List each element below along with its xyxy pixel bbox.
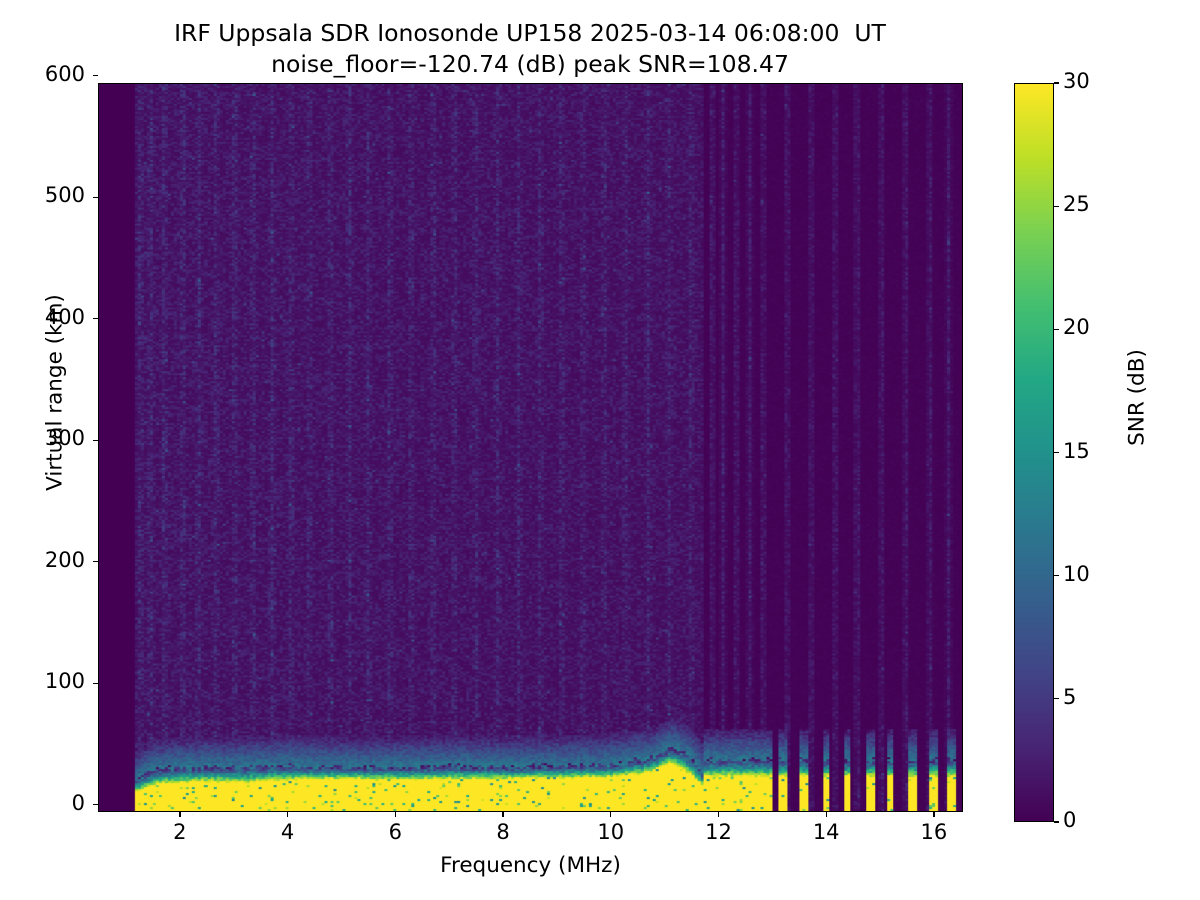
x-tick-label: 6 <box>355 820 435 844</box>
x-tick-label: 2 <box>140 820 220 844</box>
x-tick-mark <box>287 812 288 817</box>
y-tick-label: 0 <box>5 791 85 815</box>
x-tick-mark <box>610 812 611 817</box>
y-axis-label: Virtual range (km) <box>43 278 68 508</box>
x-tick-mark <box>718 812 719 817</box>
y-tick-mark <box>93 440 98 441</box>
ionogram-plot-area <box>98 83 963 812</box>
figure-title: IRF Uppsala SDR Ionosonde UP158 2025-03-… <box>0 18 1060 79</box>
x-tick-mark <box>179 812 180 817</box>
x-tick-label: 10 <box>571 820 651 844</box>
y-tick-mark <box>93 683 98 684</box>
colorbar-tick-label: 5 <box>1063 685 1133 709</box>
x-tick-label: 14 <box>786 820 866 844</box>
x-tick-label: 12 <box>678 820 758 844</box>
ionogram-heatmap <box>99 84 962 811</box>
x-tick-mark <box>395 812 396 817</box>
y-tick-mark <box>93 197 98 198</box>
y-tick-label: 500 <box>5 183 85 207</box>
colorbar-tick-label: 20 <box>1063 315 1133 339</box>
colorbar-tick-label: 30 <box>1063 69 1133 93</box>
colorbar-tick-mark <box>1054 452 1059 453</box>
colorbar-tick-label: 15 <box>1063 439 1133 463</box>
colorbar-tick-label: 10 <box>1063 562 1133 586</box>
colorbar-tick-mark <box>1054 698 1059 699</box>
y-tick-mark <box>93 318 98 319</box>
ionogram-figure: IRF Uppsala SDR Ionosonde UP158 2025-03-… <box>0 0 1200 900</box>
y-tick-label: 100 <box>5 669 85 693</box>
x-tick-mark <box>933 812 934 817</box>
colorbar-tick-label: 25 <box>1063 192 1133 216</box>
title-line-2: noise_floor=-120.74 (dB) peak SNR=108.47 <box>0 49 1060 80</box>
y-tick-mark <box>93 561 98 562</box>
colorbar-tick-mark <box>1054 575 1059 576</box>
colorbar <box>1014 83 1054 822</box>
x-tick-label: 16 <box>894 820 974 844</box>
y-tick-label: 600 <box>5 62 85 86</box>
x-tick-label: 4 <box>248 820 328 844</box>
title-line-1: IRF Uppsala SDR Ionosonde UP158 2025-03-… <box>0 18 1060 49</box>
y-tick-mark <box>93 804 98 805</box>
colorbar-tick-mark <box>1054 82 1059 83</box>
colorbar-gradient <box>1015 84 1053 821</box>
colorbar-tick-mark <box>1054 206 1059 207</box>
colorbar-tick-label: 0 <box>1063 808 1133 832</box>
colorbar-label: SNR (dB) <box>1125 283 1150 513</box>
x-tick-mark <box>826 812 827 817</box>
x-axis-label: Frequency (MHz) <box>98 853 963 878</box>
y-tick-label: 200 <box>5 548 85 572</box>
y-tick-mark <box>93 75 98 76</box>
colorbar-tick-mark <box>1054 821 1059 822</box>
x-tick-mark <box>502 812 503 817</box>
colorbar-tick-mark <box>1054 329 1059 330</box>
x-tick-label: 8 <box>463 820 543 844</box>
